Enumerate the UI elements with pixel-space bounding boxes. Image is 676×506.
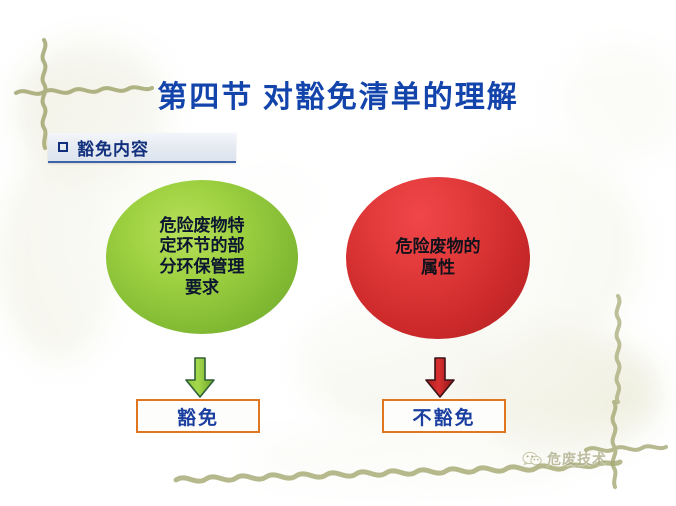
green-circle-line: 定环节的部 [138,236,266,257]
green-circle-line: 分环保管理 [138,257,266,278]
green-circle-label: 危险废物特 定环节的部 分环保管理 要求 [138,216,266,299]
background-blob [470,330,660,460]
watermark-label: 危废技术 [547,449,607,469]
red-circle-line: 危险废物的 [372,237,504,258]
red-circle-label: 危险废物的 属性 [372,237,504,278]
bottom-right-cross-icon [586,402,666,487]
red-down-arrow [424,357,456,404]
red-circle-line: 属性 [372,258,504,279]
arrow-down-icon [184,357,216,399]
slide-title: 第四节 对豁免清单的理解 [0,72,676,116]
green-circle-line: 要求 [138,278,266,299]
green-down-arrow [184,357,216,404]
background-blob [0,150,120,360]
right-wave-line [617,296,620,402]
arrow-down-icon [424,357,456,399]
subtitle-label: 豁免内容 [77,135,149,160]
wechat-icon [522,451,542,467]
subtitle-bar: 豁免内容 [48,133,236,163]
green-circle-node: 危险废物特 定环节的部 分环保管理 要求 [106,180,298,334]
square-bullet-icon [58,142,68,152]
slide-canvas: 第四节 对豁免清单的理解 豁免内容 危险废物特 定环节的部 分环保管理 要求 危… [0,0,676,506]
exempt-result-box: 豁免 [136,399,260,433]
green-circle-line: 危险废物特 [138,216,266,237]
red-circle-node: 危险废物的 属性 [346,177,530,339]
not-exempt-result-box: 不豁免 [382,399,506,433]
watermark: 危废技术 [522,449,607,469]
